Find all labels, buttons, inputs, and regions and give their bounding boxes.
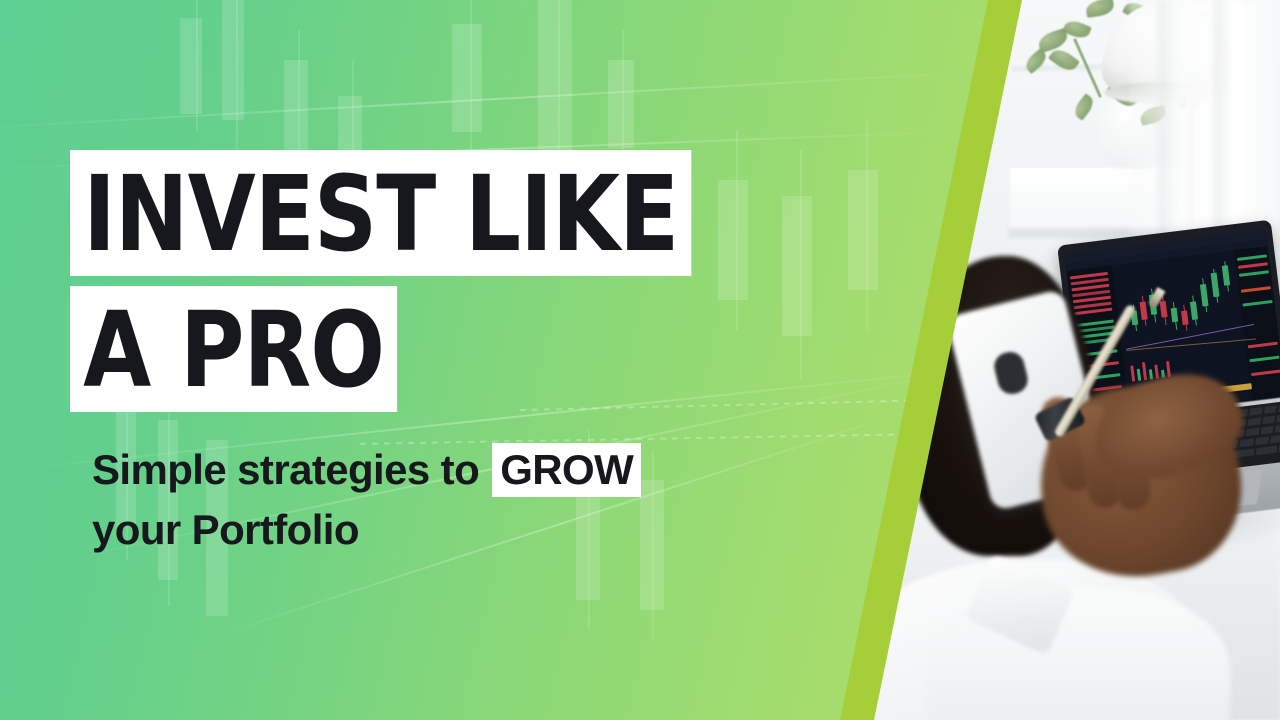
headline-line-1: INVEST LIKE	[70, 150, 691, 276]
key	[1255, 446, 1276, 456]
banner-stage: INVEST LIKE A PRO Simple strategies to G…	[0, 0, 1280, 720]
candle-body	[1140, 301, 1148, 320]
key	[1247, 417, 1261, 426]
volume-bar	[1142, 362, 1147, 380]
text-content: INVEST LIKE A PRO Simple strategies to G…	[0, 0, 900, 720]
subheadline: Simple strategies to GROW your Portfolio	[92, 440, 641, 559]
candle-body	[1222, 265, 1230, 286]
eucalyptus-leaf	[1071, 93, 1097, 121]
eucalyptus-leaf	[1048, 45, 1080, 74]
candle-body	[1181, 310, 1189, 325]
candle-body	[1160, 301, 1168, 318]
volume-bar	[1137, 369, 1141, 381]
subheadline-highlight-grow: GROW	[492, 443, 641, 497]
key	[1249, 407, 1263, 416]
key	[1260, 426, 1274, 435]
candle-body	[1211, 273, 1220, 298]
volume-bar	[1154, 364, 1159, 378]
subheadline-suffix: your Portfolio	[92, 506, 359, 553]
key	[1276, 414, 1280, 423]
key	[1255, 436, 1270, 445]
subheadline-prefix: Simple strategies to	[92, 446, 479, 493]
indicator-line	[1126, 324, 1254, 350]
key	[1263, 405, 1277, 414]
key	[1270, 435, 1280, 444]
volume-bar	[1149, 369, 1153, 379]
candle-body	[1190, 301, 1198, 320]
headline: INVEST LIKE A PRO	[70, 150, 731, 412]
eucalyptus-leaf	[1085, 0, 1115, 18]
candle-body	[1171, 308, 1179, 323]
headline-line-2: A PRO	[70, 286, 397, 412]
volume-bar	[1130, 365, 1135, 381]
key	[1275, 424, 1280, 433]
key	[1246, 428, 1260, 437]
key	[1262, 416, 1276, 425]
candle-body	[1200, 284, 1209, 307]
key	[1239, 438, 1254, 447]
